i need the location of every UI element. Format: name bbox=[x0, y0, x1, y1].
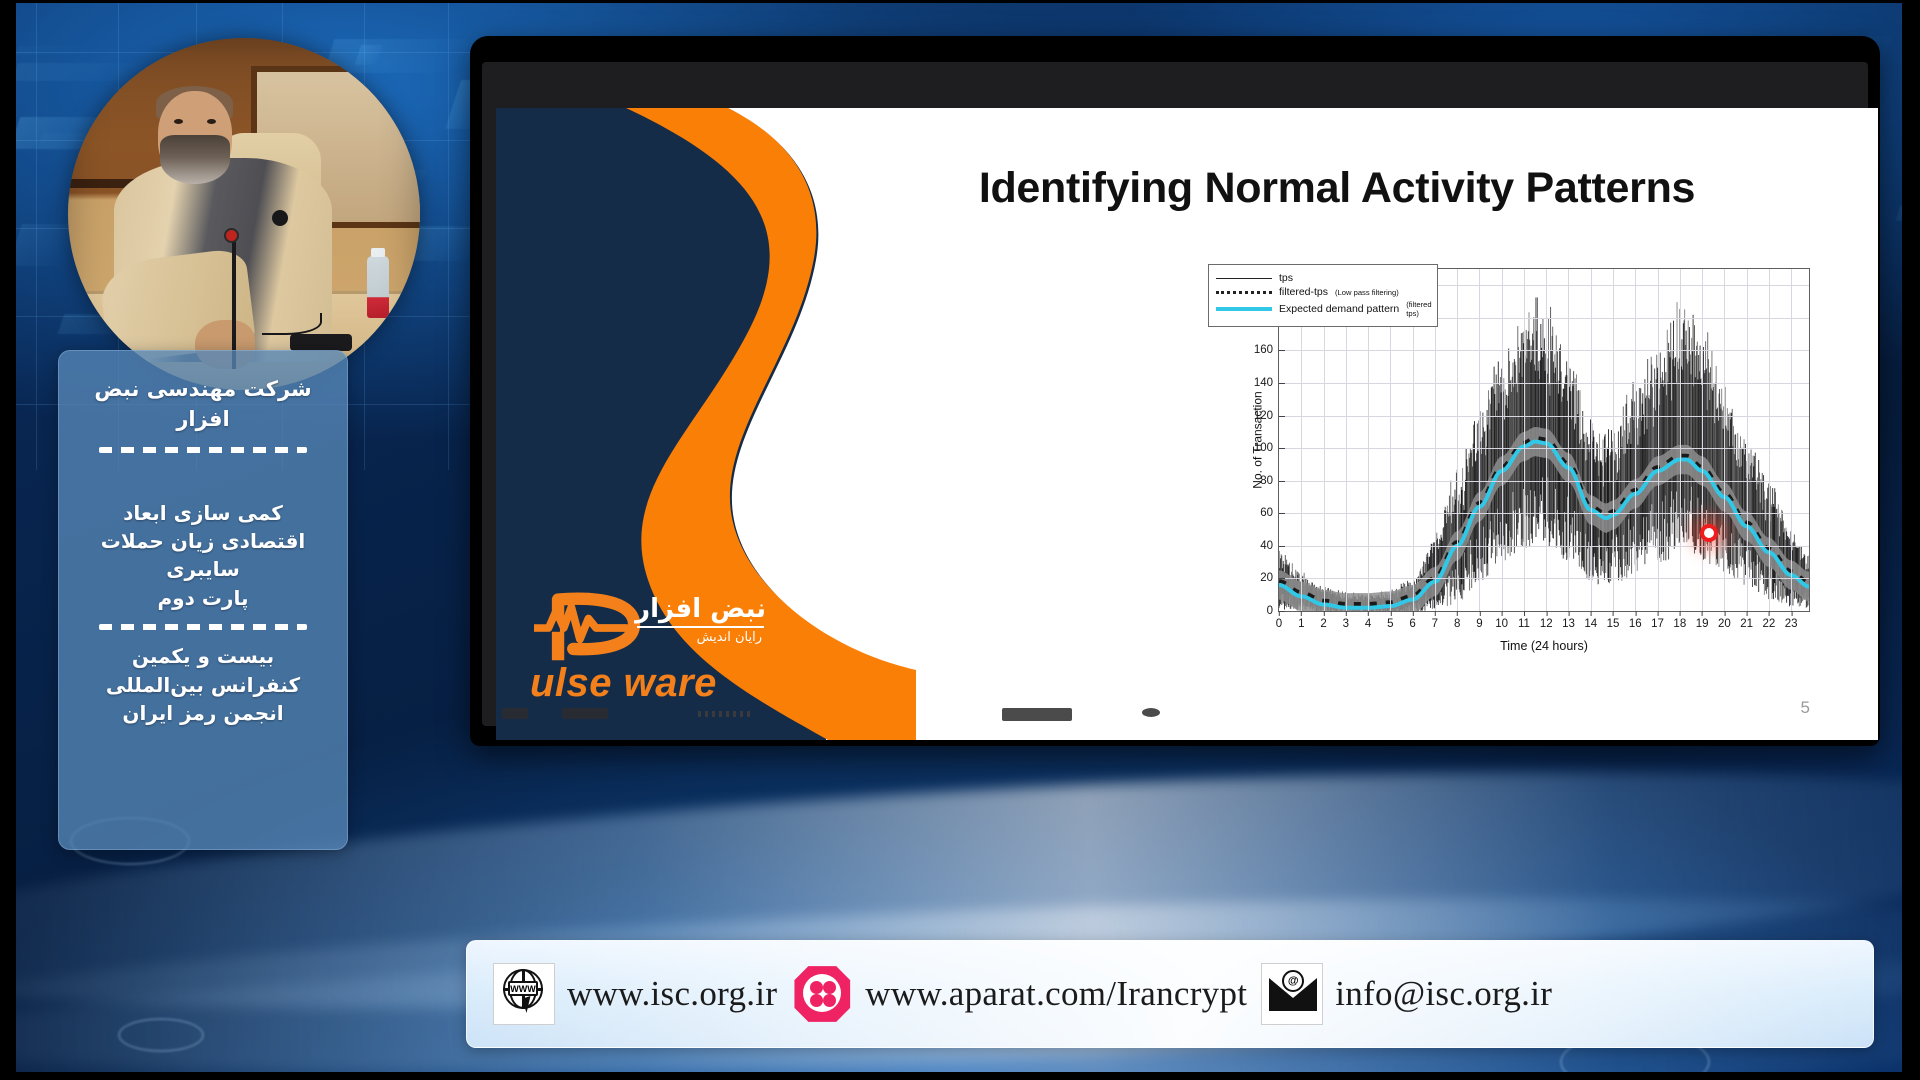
chart-xtick-15: 15 bbox=[1607, 618, 1620, 630]
mail-icon: @ bbox=[1261, 963, 1323, 1025]
chart-xtick-20: 20 bbox=[1718, 618, 1731, 630]
presentation-slide[interactable]: ulse ware نبض افزار رایان اندیش Identify… bbox=[496, 108, 1878, 740]
screen-edge-left bbox=[0, 0, 16, 1080]
screen-share-monitor: ulse ware نبض افزار رایان اندیش Identify… bbox=[470, 36, 1880, 746]
chart-gridline-v bbox=[1613, 269, 1614, 611]
chart-xtick-12: 12 bbox=[1540, 618, 1553, 630]
chart-xtick-16: 16 bbox=[1629, 618, 1642, 630]
chart-gridline-v bbox=[1769, 269, 1770, 611]
chart-xlabel: Time (24 hours) bbox=[1279, 639, 1809, 653]
topic-line1: کمی سازی ابعاد bbox=[73, 499, 333, 527]
screen-edge-right bbox=[1902, 0, 1920, 1080]
chart-gridline-v bbox=[1457, 269, 1458, 611]
chart-xtick-5: 5 bbox=[1387, 618, 1393, 630]
legend-entry-expected-demand: Expected demand pattern (filtered tps) bbox=[1216, 300, 1430, 318]
pulseware-persian-name: نبض افزار bbox=[635, 594, 766, 624]
legend-entry-filtered-tps: filtered-tps (Low pass filtering) bbox=[1216, 286, 1430, 298]
speaker-webcam-bubble[interactable] bbox=[68, 38, 420, 390]
chart-gridline-h bbox=[1279, 481, 1809, 482]
chart-xtick-22: 22 bbox=[1763, 618, 1776, 630]
topic-line4: پارت دوم bbox=[73, 584, 333, 612]
footer-item-aparat[interactable]: www.aparat.com/Irancrypt bbox=[791, 963, 1247, 1025]
chart-gridline-h bbox=[1279, 578, 1809, 579]
divider-dashed-1 bbox=[99, 447, 307, 453]
pulseware-wordmark: ulse ware bbox=[530, 661, 717, 706]
monitor-control-3[interactable] bbox=[1002, 708, 1072, 721]
monitor-control-row bbox=[502, 708, 1848, 722]
event-line3: انجمن رمز ایران bbox=[73, 699, 333, 727]
chart-legend: tps filtered-tps (Low pass filtering) Ex… bbox=[1208, 264, 1438, 327]
pulseware-persian-tagline: رایان اندیش bbox=[697, 630, 762, 645]
session-info-card: شرکت مهندسی نبض افزار کمی سازی ابعاد اقت… bbox=[58, 350, 348, 850]
presentation-stage: شرکت مهندسی نبض افزار کمی سازی ابعاد اقت… bbox=[0, 0, 1920, 1080]
monitor-power-led[interactable] bbox=[1142, 708, 1160, 717]
company-name-line2: افزار bbox=[73, 405, 333, 435]
legend-sublabel-expected-demand: (filtered tps) bbox=[1406, 300, 1431, 318]
chart-gridline-v bbox=[1680, 269, 1681, 611]
legend-swatch-filtered-tps bbox=[1216, 291, 1272, 294]
chart-gridline-v bbox=[1568, 269, 1569, 611]
topic-line3: سایبری bbox=[73, 555, 333, 583]
activity-pattern-chart: Time (24 hours) No. of Transaction 01234… bbox=[1196, 258, 1826, 678]
webcam-vignette bbox=[68, 38, 420, 390]
chart-gridline-v bbox=[1479, 269, 1480, 611]
chart-ytick-100: 100 bbox=[1254, 442, 1273, 454]
chart-gridline-v bbox=[1791, 269, 1792, 611]
chart-xtick-6: 6 bbox=[1409, 618, 1415, 630]
chart-xtick-10: 10 bbox=[1495, 618, 1508, 630]
contact-footer-bar: WWW www.isc.org.ir www.aparat.com/Irancr… bbox=[466, 940, 1874, 1048]
decor-ring-2 bbox=[118, 1018, 204, 1052]
chart-xtick-0: 0 bbox=[1276, 618, 1282, 630]
legend-entry-tps: tps bbox=[1216, 272, 1430, 284]
footer-aparat-text: www.aparat.com/Irancrypt bbox=[865, 974, 1247, 1014]
chart-xtick-8: 8 bbox=[1454, 618, 1460, 630]
divider-dashed-2 bbox=[99, 624, 307, 630]
chart-gridline-h bbox=[1279, 513, 1809, 514]
legend-label-tps: tps bbox=[1279, 272, 1293, 284]
chart-xtick-19: 19 bbox=[1696, 618, 1709, 630]
legend-label-expected-demand: Expected demand pattern bbox=[1279, 303, 1399, 315]
event-line2: کنفرانس بین‌المللی bbox=[73, 671, 333, 699]
slide-title: Identifying Normal Activity Patterns bbox=[826, 164, 1848, 213]
chart-gridline-v bbox=[1502, 269, 1503, 611]
chart-xtick-9: 9 bbox=[1476, 618, 1482, 630]
chart-xtick-1: 1 bbox=[1298, 618, 1304, 630]
screen-edge-bottom bbox=[0, 1072, 1920, 1080]
footer-website-text: www.isc.org.ir bbox=[567, 974, 777, 1014]
chart-gridline-v bbox=[1702, 269, 1703, 611]
chart-xtick-17: 17 bbox=[1651, 618, 1664, 630]
chart-gridline-h bbox=[1279, 350, 1809, 351]
monitor-control-2[interactable] bbox=[562, 708, 608, 719]
footer-email-text: info@isc.org.ir bbox=[1335, 974, 1552, 1014]
event-line1: بیست و یکمین bbox=[73, 642, 333, 670]
legend-swatch-expected-demand bbox=[1216, 307, 1272, 311]
legend-swatch-tps bbox=[1216, 278, 1272, 279]
chart-ytick-160: 160 bbox=[1254, 344, 1273, 356]
pulseware-logo: ulse ware نبض افزار رایان اندیش bbox=[530, 586, 760, 704]
chart-xtick-13: 13 bbox=[1562, 618, 1575, 630]
chart-xtick-7: 7 bbox=[1432, 618, 1438, 630]
footer-item-website[interactable]: WWW www.isc.org.ir bbox=[493, 963, 777, 1025]
chart-gridline-h bbox=[1279, 448, 1809, 449]
monitor-speaker-grille bbox=[698, 711, 752, 717]
chart-gridline-v bbox=[1546, 269, 1547, 611]
footer-item-email[interactable]: @ info@isc.org.ir bbox=[1261, 963, 1552, 1025]
screen-edge-top bbox=[0, 0, 1920, 3]
company-name-line1: شرکت مهندسی نبض bbox=[73, 375, 333, 405]
chart-ytick-60: 60 bbox=[1260, 507, 1273, 519]
chart-gridline-v bbox=[1747, 269, 1748, 611]
chart-ytick-20: 20 bbox=[1260, 572, 1273, 584]
chart-gridline-v bbox=[1635, 269, 1636, 611]
anomaly-marker-icon[interactable] bbox=[1700, 524, 1718, 542]
chart-gridline-v bbox=[1591, 269, 1592, 611]
chart-ytick-40: 40 bbox=[1260, 540, 1273, 552]
legend-sublabel-filtered-tps: (Low pass filtering) bbox=[1335, 288, 1399, 297]
chart-xtick-21: 21 bbox=[1740, 618, 1753, 630]
chart-gridline-h bbox=[1279, 383, 1809, 384]
aparat-icon bbox=[791, 963, 853, 1025]
chart-xtick-14: 14 bbox=[1584, 618, 1597, 630]
chart-ytick-80: 80 bbox=[1260, 475, 1273, 487]
chart-ytick-140: 140 bbox=[1254, 377, 1273, 389]
chart-gridline-v bbox=[1658, 269, 1659, 611]
chart-gridline-v bbox=[1524, 269, 1525, 611]
legend-label-filtered-tps: filtered-tps bbox=[1279, 286, 1328, 298]
chart-xtick-18: 18 bbox=[1673, 618, 1686, 630]
monitor-control-1[interactable] bbox=[502, 708, 528, 719]
chart-xtick-11: 11 bbox=[1518, 618, 1530, 630]
chart-ytick-120: 120 bbox=[1254, 410, 1273, 422]
topic-line2: اقتصادی زیان حملات bbox=[73, 527, 333, 555]
monitor-inner-panel: ulse ware نبض افزار رایان اندیش Identify… bbox=[482, 62, 1868, 726]
chart-xtick-23: 23 bbox=[1785, 618, 1798, 630]
chart-gridline-v bbox=[1724, 269, 1725, 611]
globe-icon: WWW bbox=[493, 963, 555, 1025]
chart-xtick-3: 3 bbox=[1343, 618, 1349, 630]
chart-xtick-2: 2 bbox=[1320, 618, 1326, 630]
chart-gridline-h bbox=[1279, 416, 1809, 417]
chart-gridline-h bbox=[1279, 546, 1809, 547]
chart-ytick-0: 0 bbox=[1267, 605, 1273, 617]
chart-xtick-4: 4 bbox=[1365, 618, 1371, 630]
